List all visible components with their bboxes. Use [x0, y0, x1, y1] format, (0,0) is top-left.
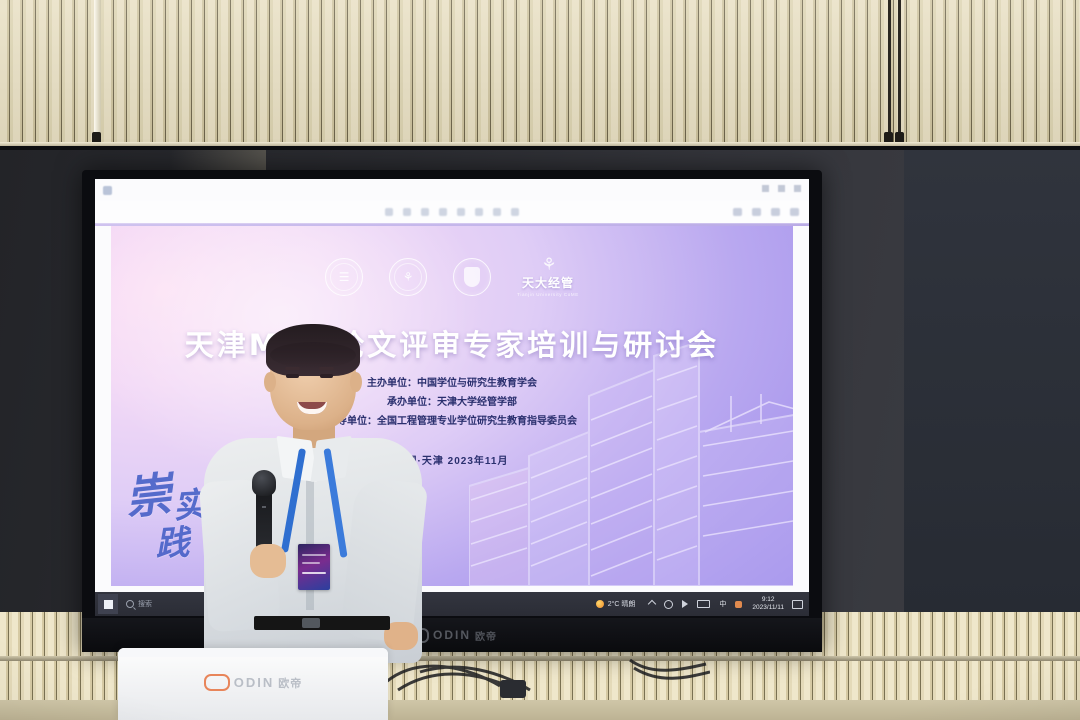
interactive-display[interactable]: 崇 实 事 践 商 ☰ ⚘ [82, 170, 822, 652]
lectern-odin-logo: ODIN 欧帝 [118, 674, 388, 691]
academic-degrees-glyph: ⚘ [394, 263, 422, 291]
tianjin-university-emblem-icon [453, 258, 491, 296]
speaker-ear-left [264, 372, 276, 392]
speaker-person [198, 330, 428, 660]
ime-indicator[interactable]: 中 [719, 599, 726, 609]
toolbar-dropdown-icon-2[interactable] [752, 208, 761, 216]
odin-podium-o-icon [204, 674, 230, 691]
toolbar-icon-2[interactable] [403, 208, 411, 216]
tju-come-name-cn: 天大经管 [522, 274, 574, 291]
wall-divider-right-a [888, 0, 891, 146]
odin-brand-text: ODIN [433, 628, 471, 642]
speaker-eye-right [320, 374, 333, 378]
chevron-up-icon[interactable] [648, 600, 656, 608]
toolbar-icon-1[interactable] [385, 208, 393, 216]
search-icon [126, 600, 134, 608]
toolbar-icon-3[interactable] [421, 208, 429, 216]
clock-time: 9:12 [752, 596, 784, 604]
clock-date: 2023/11/11 [752, 604, 784, 612]
keyboard-icon[interactable] [735, 601, 742, 608]
speaker-left-hand [250, 544, 286, 578]
speaker-ear-right [350, 372, 362, 392]
toolbar-icon-4[interactable] [439, 208, 447, 216]
odin-podium-text-cn: 欧帝 [278, 675, 302, 691]
speaker-brow-right [319, 367, 334, 370]
speaker-brow-left [285, 367, 300, 370]
microphone-head-icon [252, 470, 276, 496]
photo-scene: 崇 实 事 践 商 ☰ ⚘ [0, 0, 1080, 720]
minimize-icon[interactable] [762, 185, 769, 192]
speaker-eye-left [286, 374, 299, 378]
microphone-detail [262, 506, 266, 508]
toolbar-icon-7[interactable] [493, 208, 501, 216]
panel-top-edge [0, 146, 1080, 150]
tju-come-name-en: Tianjin University CoME [517, 292, 579, 297]
shield-icon [464, 267, 480, 287]
slide-logo-row: ☰ ⚘ ⚘ 天大经管 Tianjin University CoME [111, 256, 793, 297]
toolbar-dropdown-icon-1[interactable] [733, 208, 742, 216]
academic-degrees-emblem-icon: ⚘ [389, 258, 427, 296]
lectern-top-surface [118, 648, 388, 657]
network-icon[interactable] [664, 600, 673, 609]
badge-line-2 [302, 562, 320, 564]
weather-label: 2°C 晴朗 [608, 599, 636, 609]
sun-icon [596, 600, 604, 608]
belt-buckle [302, 618, 320, 628]
system-tray[interactable]: 中 [649, 599, 742, 609]
cable-connector [500, 680, 526, 698]
badge-line-1 [302, 554, 326, 556]
cdgdc-emblem-glyph: ☰ [330, 263, 358, 291]
toolbar-right-group[interactable] [733, 208, 799, 216]
maximize-icon[interactable] [778, 185, 785, 192]
search-placeholder: 搜索 [138, 599, 152, 609]
tju-come-logo: ⚘ 天大经管 Tianjin University CoME [517, 256, 579, 297]
search-input[interactable]: 搜索 [126, 599, 152, 609]
toolbar-icon-5[interactable] [457, 208, 465, 216]
display-wall-panel-right [904, 148, 1080, 660]
wall-divider-right-b [898, 0, 901, 146]
window-controls[interactable] [762, 185, 801, 192]
cdgdc-emblem-icon: ☰ [325, 258, 363, 296]
volume-icon[interactable] [682, 600, 688, 608]
tju-come-mark-icon: ⚘ [541, 256, 554, 273]
odin-podium-text: ODIN [234, 675, 275, 690]
speaker-belt [254, 616, 390, 630]
cable-bundle [380, 646, 710, 706]
speaker-hair [266, 324, 360, 376]
toolbar-icon-6[interactable] [475, 208, 483, 216]
start-button[interactable] [98, 594, 118, 614]
badge-line-3 [302, 572, 326, 574]
battery-icon[interactable] [697, 600, 710, 608]
weather-widget[interactable]: 2°C 晴朗 [596, 599, 636, 609]
taskbar-clock[interactable]: 9:12 2023/11/11 [752, 596, 784, 612]
toolbar-gear-icon[interactable] [771, 208, 780, 216]
lectern: ODIN 欧帝 [118, 648, 388, 720]
odin-brand-text-cn: 欧帝 [475, 628, 497, 643]
wall-divider-left [94, 0, 101, 146]
action-center-icon[interactable] [792, 600, 803, 609]
windows-logo-icon [104, 600, 113, 609]
calligraphy-char-4: 践 [153, 515, 190, 566]
app-toolbar[interactable] [95, 201, 809, 223]
conference-badge [298, 544, 330, 590]
app-title-bar[interactable] [95, 179, 809, 201]
toolbar-more-icon[interactable] [790, 208, 799, 216]
close-icon[interactable] [794, 185, 801, 192]
app-icon [103, 186, 112, 195]
toolbar-icon-8[interactable] [511, 208, 519, 216]
